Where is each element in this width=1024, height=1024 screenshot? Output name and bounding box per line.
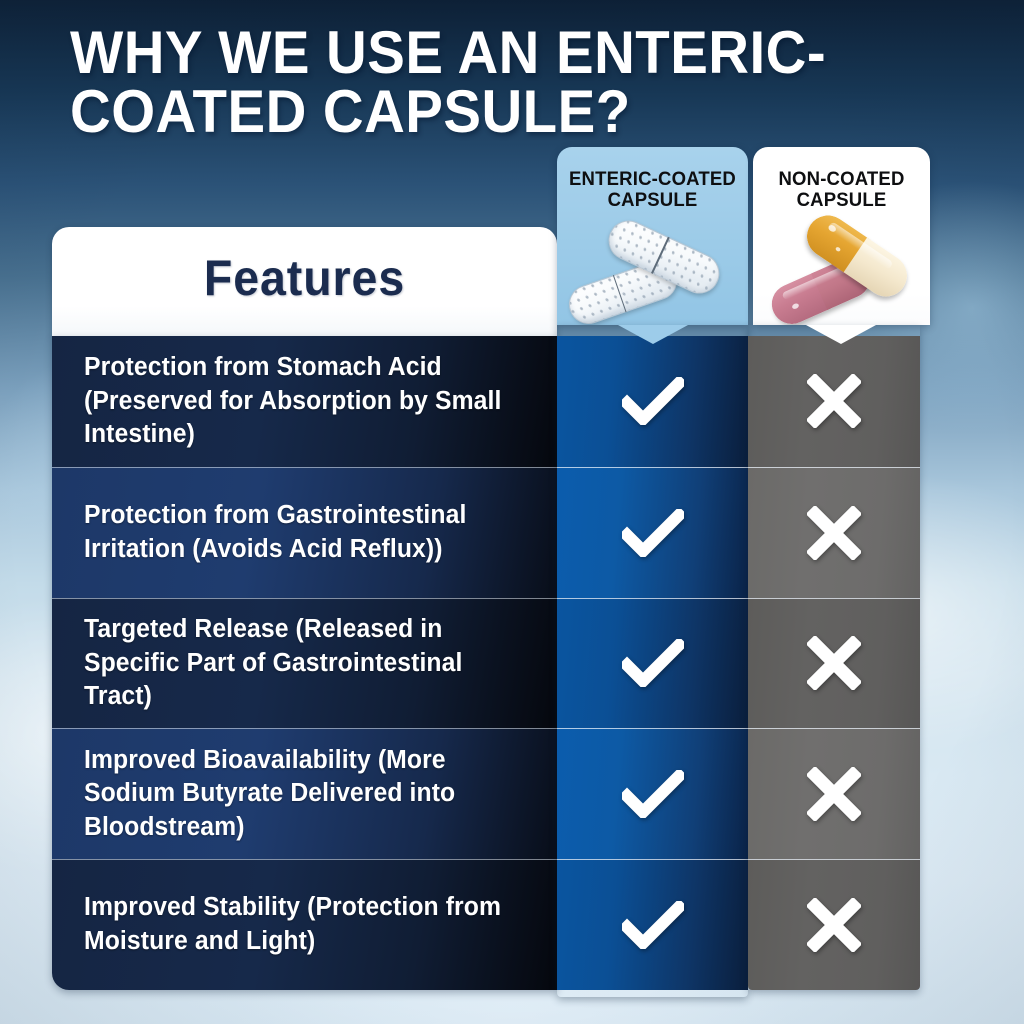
table-row: Protection from Stomach Acid (Preserved … — [52, 336, 557, 467]
feature-label: Targeted Release (Released in Specific P… — [84, 613, 510, 714]
enteric-column-header: Enteric-Coated Capsule — [557, 147, 748, 325]
enteric-header-label: Enteric-Coated Capsule — [566, 169, 740, 212]
check-icon — [622, 770, 684, 818]
noncoated-column-header: Non-Coated Capsule — [753, 147, 930, 325]
cross-icon — [807, 506, 861, 560]
table-row: Improved Bioavailability (More Sodium Bu… — [52, 728, 557, 859]
enteric-cell-row2 — [557, 467, 748, 598]
enteric-header-line1: Enteric-Coated — [569, 168, 736, 190]
enteric-header-line2: Capsule — [608, 189, 698, 211]
clear-granular-capsules-icon — [567, 229, 738, 325]
noncoated-cell-row2 — [748, 467, 920, 598]
noncoated-cell-row5 — [748, 859, 920, 990]
cross-icon — [807, 636, 861, 690]
pink-yellow-capsules-icon — [769, 233, 917, 325]
noncoated-cell-row3 — [748, 598, 920, 729]
noncoated-header-label: Non-Coated Capsule — [761, 169, 922, 212]
check-icon — [622, 901, 684, 949]
table-row: Improved Stability (Protection from Mois… — [52, 859, 557, 990]
features-column-header: Features — [52, 227, 557, 337]
check-icon — [622, 639, 684, 687]
table-row: Targeted Release (Released in Specific P… — [52, 598, 557, 729]
noncoated-header-line1: Non-Coated — [778, 168, 904, 190]
enteric-column-body — [557, 325, 748, 997]
noncoated-column-body — [748, 325, 920, 990]
features-column-body: Protection from Stomach Acid (Preserved … — [52, 336, 557, 990]
page-title: Why We Use An Enteric-Coated Capsule? — [70, 24, 850, 142]
check-icon — [622, 377, 684, 425]
noncoated-header-line2: Capsule — [797, 189, 887, 211]
enteric-cell-row1 — [557, 336, 748, 467]
feature-label: Improved Bioavailability (More Sodium Bu… — [84, 744, 510, 845]
cross-icon — [807, 374, 861, 428]
enteric-cell-row5 — [557, 859, 748, 990]
check-icon — [622, 509, 684, 557]
enteric-cell-row3 — [557, 598, 748, 729]
noncoated-cell-row1 — [748, 336, 920, 467]
feature-label: Protection from Stomach Acid (Preserved … — [84, 351, 510, 452]
feature-label: Protection from Gastrointestinal Irritat… — [84, 499, 510, 566]
enteric-cell-row4 — [557, 728, 748, 859]
cross-icon — [807, 767, 861, 821]
table-row: Protection from Gastrointestinal Irritat… — [52, 467, 557, 598]
cross-icon — [807, 898, 861, 952]
features-header-label: Features — [70, 249, 540, 307]
noncoated-cell-row4 — [748, 728, 920, 859]
feature-label: Improved Stability (Protection from Mois… — [84, 891, 510, 958]
